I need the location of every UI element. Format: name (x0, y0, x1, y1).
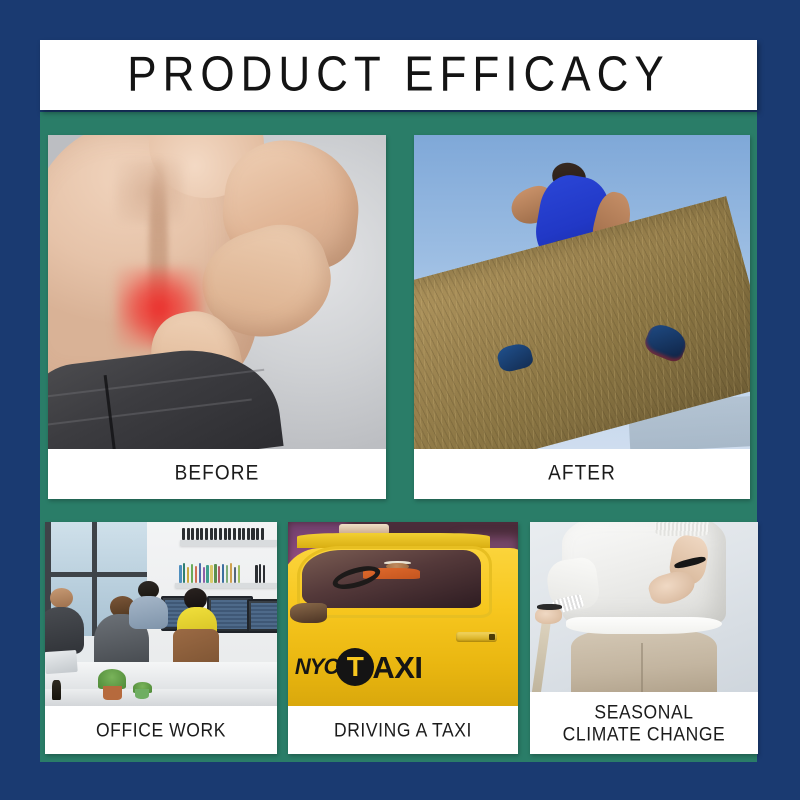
runner-photo (414, 135, 750, 449)
taxi-logo-t-circle: T (336, 648, 374, 686)
window-mullion (45, 572, 147, 577)
office-person-body (45, 607, 84, 655)
binder-row (182, 528, 275, 541)
jeans-seam (48, 398, 252, 427)
card-driving-a-taxi[interactable]: NYC T AXI DRIVING A TAXI (288, 522, 518, 754)
desk-bottle (52, 680, 61, 700)
caption-text: BEFORE (175, 462, 260, 486)
door-handle (456, 632, 497, 641)
sweater-collar (655, 522, 710, 536)
window-mullion (92, 522, 97, 636)
card-seasonal-climate-change[interactable]: SEASONAL CLIMATE CHANGE (530, 522, 758, 754)
book-row (177, 562, 274, 582)
laptop (45, 650, 78, 674)
product-efficacy-poster: PRODUCT EFFICACY (0, 0, 800, 800)
caption-text: AFTER (548, 462, 616, 486)
title-band: PRODUCT EFFICACY (40, 40, 757, 110)
side-mirror (290, 603, 327, 623)
office-shelf (175, 583, 277, 589)
walking-cane (531, 617, 551, 692)
caption-line-1: SEASONAL (594, 701, 693, 723)
caption-before: BEFORE (48, 449, 386, 499)
taxi-logo-t-letter: T (347, 653, 364, 681)
office-desk-front (45, 689, 277, 706)
nyc-taxi-logo: NYC T AXI (295, 647, 493, 687)
elderly-back-pain-photo (530, 522, 758, 692)
taxi-logo-prefix: NYC (295, 656, 338, 678)
office-monitor (247, 599, 277, 632)
office-desk (45, 662, 277, 691)
caption-text: OFFICE WORK (96, 719, 226, 741)
taxi-logo-suffix: AXI (372, 652, 422, 683)
caption-seasonal-climate-change: SEASONAL CLIMATE CHANGE (530, 692, 758, 754)
plant-pot (103, 686, 122, 701)
page-title: PRODUCT EFFICACY (127, 50, 670, 99)
plant-pot (135, 689, 149, 698)
card-after[interactable]: AFTER (414, 135, 750, 499)
caption-driving-a-taxi: DRIVING A TAXI (288, 706, 518, 754)
card-office-work[interactable]: OFFICE WORK (45, 522, 277, 754)
caption-office-work: OFFICE WORK (45, 706, 277, 754)
caption-text: DRIVING A TAXI (334, 719, 472, 741)
office-person-body (129, 596, 168, 629)
caption-line-2: CLIMATE CHANGE (563, 723, 726, 745)
taxi-photo: NYC T AXI (288, 522, 518, 706)
office-shelf (180, 540, 277, 546)
jeans-seam (48, 368, 264, 399)
caption-text: SEASONAL CLIMATE CHANGE (563, 701, 726, 745)
pants-shape (571, 631, 717, 692)
office-photo (45, 522, 277, 706)
sweater-hem (566, 617, 721, 634)
left-wrist-band (537, 604, 562, 610)
card-before[interactable]: BEFORE (48, 135, 386, 499)
caption-after: AFTER (414, 449, 750, 499)
back-pain-photo (48, 135, 386, 449)
left-hand-on-cane (535, 607, 562, 624)
